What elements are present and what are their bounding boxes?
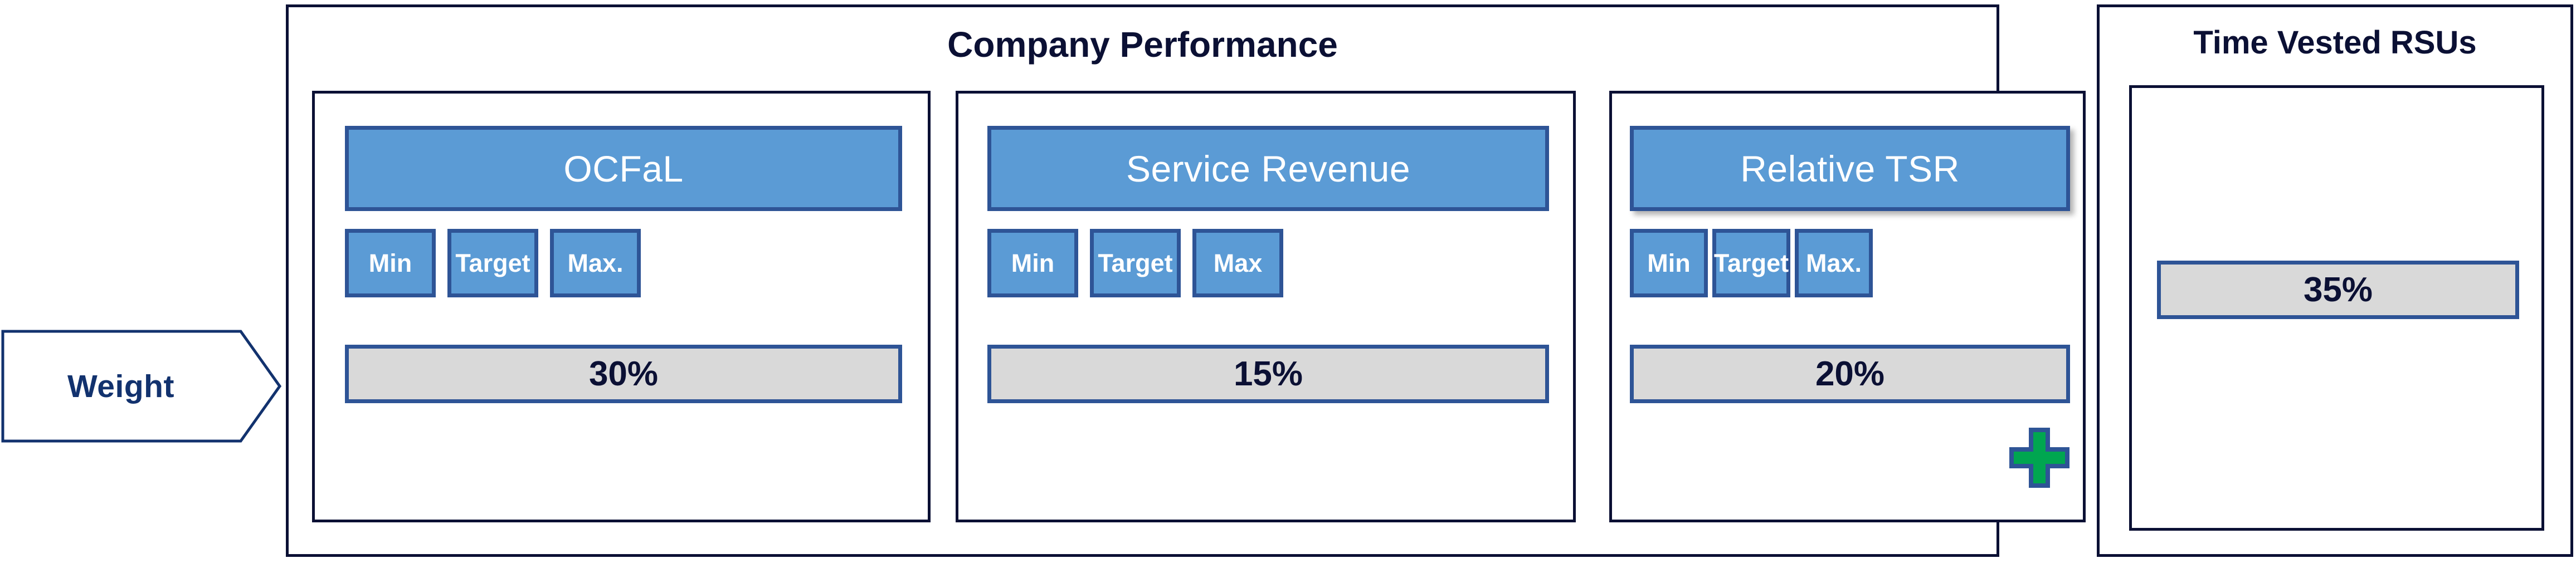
metric-header-ocfal[interactable]: OCFaL [345, 126, 902, 211]
company-performance-title: Company Performance [289, 24, 1996, 65]
time-vested-rsus-title: Time Vested RSUs [2100, 24, 2570, 61]
weight-label: Weight [1, 330, 241, 443]
threshold-box-min[interactable]: Min [345, 229, 436, 297]
company-performance-panel: Company Performance OCFaL Min Target Max… [286, 4, 1999, 557]
threshold-box-min[interactable]: Min [1630, 229, 1708, 297]
threshold-row-service-revenue: Min Target Max [987, 229, 1283, 297]
threshold-box-min[interactable]: Min [987, 229, 1078, 297]
weight-callout: Weight [1, 330, 281, 443]
metric-card-ocfal[interactable]: OCFaL Min Target Max. 30% [312, 91, 931, 522]
plus-icon [2009, 428, 2069, 488]
metric-header-service-revenue[interactable]: Service Revenue [987, 126, 1549, 211]
threshold-box-target[interactable]: Target [1712, 229, 1790, 297]
threshold-row-ocfal: Min Target Max. [345, 229, 641, 297]
weight-value-ocfal: 30% [345, 345, 902, 403]
threshold-box-max[interactable]: Max. [1795, 229, 1873, 297]
threshold-row-relative-tsr: Min Target Max. [1630, 229, 1873, 297]
threshold-box-max[interactable]: Max [1192, 229, 1283, 297]
time-vested-rsus-inner-panel: 35% [2129, 85, 2544, 531]
plus-icon-shape [2009, 428, 2069, 488]
threshold-box-max[interactable]: Max. [550, 229, 641, 297]
time-vested-rsus-panel: Time Vested RSUs 35% [2097, 4, 2573, 557]
metric-header-relative-tsr[interactable]: Relative TSR [1630, 126, 2070, 211]
threshold-box-target[interactable]: Target [1090, 229, 1181, 297]
threshold-box-target[interactable]: Target [447, 229, 538, 297]
weight-value-relative-tsr: 20% [1630, 345, 2070, 403]
metric-card-service-revenue[interactable]: Service Revenue Min Target Max 15% [956, 91, 1576, 522]
weight-value-time-vested-rsus: 35% [2157, 261, 2519, 319]
weight-value-service-revenue: 15% [987, 345, 1549, 403]
